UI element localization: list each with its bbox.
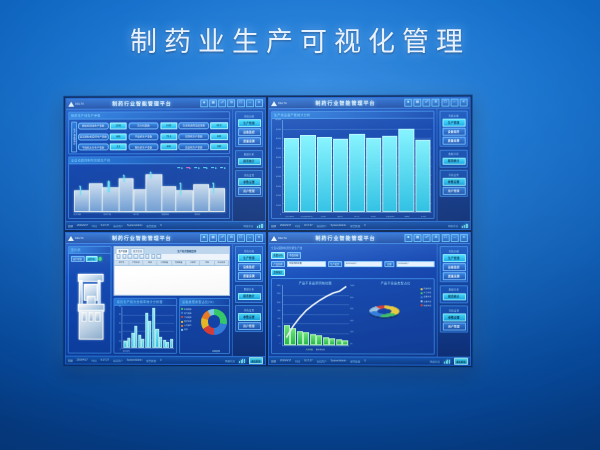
status-alarm-label: 报警数量 xyxy=(350,223,360,227)
param-label: 颗粒机转速生产参数 xyxy=(78,122,108,129)
bar xyxy=(170,338,173,347)
y2-tick: 60% xyxy=(350,309,353,311)
rail-button-quality[interactable]: 质量追溯 xyxy=(238,272,261,280)
pie-legend: 机械故障 电气故障 气动故障 程序异常 人为操作 其他 xyxy=(181,307,192,331)
y-tick: 40,000 xyxy=(276,177,281,179)
y-tick: 80,000 xyxy=(276,139,281,141)
pareto-chart: 产品不良品原因柏拉图 1400 1200 1000 800 600 400 20… xyxy=(273,280,357,352)
legend-item: 机械故障 xyxy=(181,307,192,310)
bar-chart-output: 100,000 90,000 80,000 70,000 60,000 50,0… xyxy=(272,119,434,218)
exit-button[interactable]: 退出系统 xyxy=(249,357,263,364)
param-value: 980 xyxy=(110,133,127,140)
filter-bar[interactable]: 产品名称 阿莫西林胶囊 生产批次 B20190417 日期 2019/04/17 xyxy=(271,261,435,268)
status-alarm-value: 0 xyxy=(364,359,365,362)
section-header: 全自动固体制剂智能生产线 xyxy=(271,246,435,250)
x-tick: 喷码机 xyxy=(416,216,432,218)
window-icon[interactable]: ☐ xyxy=(441,234,449,242)
legend-item: 其他 xyxy=(181,328,192,331)
rail-group: 系统设置 参数设置 用户管理 xyxy=(235,170,263,197)
y-axis: 50 40 30 20 10 0 xyxy=(115,305,121,352)
signal-icon xyxy=(257,224,263,228)
rail-group-caption: 数据分析 xyxy=(442,152,465,156)
x-axis: 提升加料机 湿法混合制粒机 流化床 整粒机 压片机 包衣机 铝塑包装机 装盒机 … xyxy=(282,216,432,218)
user-icon[interactable]: ☻ xyxy=(404,99,412,107)
y-tick: 1200 xyxy=(277,294,281,296)
brand-label: DELTA xyxy=(278,237,287,240)
status-date-value: 2019/4/17 xyxy=(280,359,291,362)
y-tick: 30,000 xyxy=(276,187,281,189)
tab-quality-analysis[interactable]: 质量分析 xyxy=(271,252,285,259)
legend-label: 外观不良 xyxy=(424,287,432,290)
save-icon[interactable] xyxy=(128,254,133,259)
pie-footer: 设备故障 xyxy=(212,349,220,352)
y-tick: 400 xyxy=(278,327,281,329)
titlebar: DELTA 制药行业智能管理平台 ☻ ▦ ☍ ⚙ ☐ – ✕ xyxy=(66,233,265,244)
legend-item: 电气故障 xyxy=(181,312,192,315)
signal-icon xyxy=(239,359,245,363)
flow-legend xyxy=(177,167,225,169)
station-label: 压片机 xyxy=(133,213,139,216)
rail-button-users[interactable]: 用户管理 xyxy=(238,187,261,195)
search-icon[interactable] xyxy=(157,254,162,259)
rail-button-equipment[interactable]: 设备监控 xyxy=(238,128,261,136)
param-value: 420 xyxy=(211,133,228,140)
rail-group-caption: 系统功能 xyxy=(442,113,465,117)
machine-block[interactable] xyxy=(74,190,90,211)
table-title: 生产批次数据查询 xyxy=(146,249,228,253)
donut-chart-defects xyxy=(369,305,399,317)
param-value: 0.85 xyxy=(160,122,177,129)
tab-defect-analysis[interactable]: 不良分析 xyxy=(287,252,301,259)
param-label: 装盒机生产参数 xyxy=(179,143,209,150)
param-value: 640 xyxy=(160,143,177,150)
legend-label: 累计百分比 xyxy=(316,348,325,351)
sidebar-rail[interactable]: 系统功能 生产管理 设备监控 质量追溯 数据分析 报表统计 系统设置 参数设置 … xyxy=(436,109,469,221)
status-user-value: SystemAdmin xyxy=(331,224,346,227)
y2-tick: 100% xyxy=(350,286,354,288)
table-toolbar[interactable] xyxy=(115,254,229,261)
flow-arrow-icon xyxy=(220,167,226,169)
status-date-value: 2019/4/17 xyxy=(280,224,291,227)
rail-button-users[interactable]: 用户管理 xyxy=(237,322,260,330)
status-indicator xyxy=(80,187,81,195)
pie-legend: 外观不良 尺寸不良 重量不良 含量不良 包装不良 xyxy=(421,287,432,307)
status-indicator xyxy=(124,175,125,182)
machine-block[interactable] xyxy=(193,184,209,211)
close-icon[interactable]: ✕ xyxy=(460,234,468,242)
x-axis-label: 批次编号 xyxy=(123,350,130,353)
status-user-label: 当前用户 xyxy=(113,224,123,228)
new-icon[interactable] xyxy=(116,254,121,259)
param-row: 干燥机水分生产参数 3.2 整粒机生产参数 640 装盒机生产参数 180 xyxy=(78,143,228,150)
status-time-label: 时间 xyxy=(295,223,300,227)
delta-logo: DELTA xyxy=(271,101,287,106)
x-tick: 压片机 xyxy=(349,216,365,218)
flow-arrow-icon xyxy=(203,167,209,169)
y-tick: 50 xyxy=(119,306,121,308)
y-tick: 1000 xyxy=(277,303,281,305)
rail-button-report[interactable]: 报表统计 xyxy=(238,158,261,166)
titlebar-icons[interactable]: ☻ ▦ ☍ ⚙ ☐ – ✕ xyxy=(404,234,468,242)
minimize-icon[interactable]: – xyxy=(246,234,254,242)
x-tick: 流化床 xyxy=(315,216,331,218)
rail-group: 数据分析 报表统计 xyxy=(440,285,468,303)
window-icon[interactable]: ☐ xyxy=(441,99,449,107)
close-icon[interactable]: ✕ xyxy=(255,99,263,107)
y2-tick: 40% xyxy=(350,321,353,323)
flow-arrow-icon xyxy=(211,167,217,169)
panel-analysis: 产品不良品原因柏拉图 1400 1200 1000 800 600 400 20… xyxy=(271,278,435,355)
status-indicator xyxy=(213,183,214,192)
link-icon[interactable]: ☍ xyxy=(423,99,431,107)
rail-button-report[interactable]: 报表统计 xyxy=(237,292,260,300)
rail-button-quality[interactable]: 质量追溯 xyxy=(442,137,465,145)
titlebar: DELTA 制药行业智能管理平台 ☻ ▦ ☍ ⚙ ☐ – ✕ xyxy=(66,98,265,110)
rail-button-params[interactable]: 参数设置 xyxy=(237,313,260,321)
status-time-value: 9:17:27 xyxy=(304,359,312,362)
bar-chart-batches: 50 40 30 20 10 0 xyxy=(115,305,176,353)
param-value: 3.2 xyxy=(110,144,127,151)
rail-button-equipment[interactable]: 设备监控 xyxy=(442,263,465,271)
y-tick: 200 xyxy=(278,336,281,338)
open-icon[interactable] xyxy=(122,254,127,259)
chart-icon[interactable]: ▦ xyxy=(413,99,421,107)
status-indicator xyxy=(180,184,181,195)
station-label: 提升加料 xyxy=(74,213,82,216)
app-title: 制药行业智能管理平台 xyxy=(86,234,198,241)
legend-label: 含量不良 xyxy=(424,300,432,303)
rail-button-quality[interactable]: 质量追溯 xyxy=(442,272,465,280)
panel-batch-bar-chart: 最近生产批次合格率统计分析图 50 40 30 20 10 xyxy=(114,297,177,354)
rail-group-caption: 系统设置 xyxy=(238,173,261,177)
status-date-label: 日期 xyxy=(271,359,276,363)
close-icon[interactable]: ✕ xyxy=(255,234,263,242)
tab-strip[interactable]: 质量分析 不良分析 xyxy=(271,252,435,259)
rail-group: 系统功能 生产管理 设备监控 质量追溯 xyxy=(235,111,263,147)
legend-label: 其他 xyxy=(184,328,188,331)
titlebar-icons[interactable]: ☻ ▦ ☍ ⚙ ☐ – ✕ xyxy=(404,99,468,107)
legend-label: 人为操作 xyxy=(184,324,192,327)
bar-series xyxy=(284,120,431,212)
y-tick: 100,000 xyxy=(275,120,281,122)
y-tick: 20,000 xyxy=(276,196,281,198)
y-tick: 1400 xyxy=(277,286,281,288)
gear-icon[interactable]: ⚙ xyxy=(432,234,440,242)
legend-label: 包装不良 xyxy=(424,304,432,307)
status-alarm-value: 0 xyxy=(160,359,161,362)
machine-block[interactable] xyxy=(102,187,120,211)
column-header: 产品名称 xyxy=(129,261,143,265)
print-icon[interactable] xyxy=(134,254,139,259)
refresh-icon[interactable] xyxy=(145,254,150,259)
status-time-value: 9:17:27 xyxy=(101,359,109,362)
y-axis-right: 100% 80% 60% 40% 20% 0% xyxy=(350,285,357,347)
rail-button-users[interactable]: 用户管理 xyxy=(442,187,465,195)
legend-label: 尺寸不良 xyxy=(424,291,432,294)
rail-button-production[interactable]: 生产管理 xyxy=(238,119,261,127)
rail-button-production[interactable]: 生产管理 xyxy=(442,254,465,262)
status-time-label: 时间 xyxy=(295,359,300,363)
bar xyxy=(349,134,364,212)
status-date-value: 2019/4/17 xyxy=(77,359,88,362)
y-tick: 800 xyxy=(278,311,281,313)
x-tick: 提升加料机 xyxy=(282,216,298,218)
filter-input-product[interactable]: 阿莫西林胶囊 xyxy=(287,261,325,268)
app-title: 制药行业智能管理平台 xyxy=(289,235,402,242)
signal-icon xyxy=(462,223,468,227)
y2-tick: 80% xyxy=(350,298,353,300)
x-tick: 包衣机 xyxy=(366,216,382,218)
param-value: 180 xyxy=(211,143,228,150)
screen-equipment-quality[interactable]: DELTA 制药行业智能管理平台 ☻ ▦ ☍ ⚙ ☐ – ✕ 压片机 xyxy=(65,232,266,365)
plot-area xyxy=(122,306,174,349)
bar xyxy=(317,137,332,212)
rail-group-caption: 系统设置 xyxy=(442,172,465,176)
status-bar: 日期 2019/4/17 时间 9:17:27 当前用户 SystemAdmin… xyxy=(269,356,470,365)
titlebar-icons[interactable]: ☻ ▦ ☍ ⚙ ☐ – ✕ xyxy=(200,99,263,107)
station-label: 流化干燥 xyxy=(103,213,111,216)
triangle-icon xyxy=(271,236,277,241)
machine-block[interactable] xyxy=(146,174,162,212)
rail-group: 数据分析 报表统计 xyxy=(235,150,263,168)
status-time-value: 9:17:27 xyxy=(304,224,312,227)
column-header: 规格 xyxy=(143,261,157,265)
machine-block[interactable] xyxy=(161,186,176,211)
filter-input-date[interactable]: 2019/04/17 xyxy=(396,261,435,268)
rail-button-params[interactable]: 参数设置 xyxy=(238,178,261,186)
gear-icon[interactable]: ⚙ xyxy=(227,234,235,242)
rail-group: 系统功能 生产管理 设备监控 质量追溯 xyxy=(440,246,468,282)
export-icon[interactable] xyxy=(151,254,156,259)
triangle-icon xyxy=(68,101,74,106)
column-header: 状态 xyxy=(200,261,214,265)
param-value: 62.5 xyxy=(211,122,228,129)
machine-block[interactable] xyxy=(176,190,194,211)
rail-group: 数据分析 报表统计 xyxy=(440,149,468,167)
y-tick: 600 xyxy=(278,319,281,321)
rail-group-caption: 数据分析 xyxy=(442,287,465,291)
flow-arrow-icon xyxy=(177,167,183,169)
panel-production-line: 全自动固体制剂智能生产线 xyxy=(68,156,230,219)
defect-type-pie: 产品不良品类型占比 外观不良 尺寸不良 重量不良 含量不良 包装不良 xyxy=(359,280,432,352)
rail-group: 数据分析 报表统计 xyxy=(235,284,263,302)
panel-output-chart: 生产线设备产能统计分析 100,000 90,000 80,000 70,000… xyxy=(271,111,435,219)
y-tick: 0 xyxy=(120,350,121,352)
param-label: 包衣机进风温度参数 xyxy=(179,122,209,129)
bar-series xyxy=(124,306,173,348)
donut-chart-faults xyxy=(201,308,227,334)
rail-button-report[interactable]: 报表统计 xyxy=(442,293,465,301)
screen-defect-pareto[interactable]: DELTA 制药行业智能管理平台 ☻ ▦ ☍ ⚙ ☐ – ✕ 全自动固体制剂智能… xyxy=(268,232,471,366)
user-icon[interactable]: ☻ xyxy=(200,99,208,107)
panel-fault-pie: 设备故障类型占比(%) 机械故障 电气故障 气动故障 程序异常 人为操作 其他 xyxy=(179,297,230,354)
x-tick: 装盒机 xyxy=(399,216,415,218)
machine-block[interactable] xyxy=(119,178,134,211)
machine-block[interactable] xyxy=(89,183,102,211)
status-alarm-value: 0 xyxy=(160,224,161,227)
bar xyxy=(415,140,431,212)
chart-icon[interactable]: ▦ xyxy=(209,99,217,107)
video-wall: DELTA 制药行业智能管理平台 ☻ ▦ ☍ ⚙ ☐ – ✕ 制药生产线生产 xyxy=(63,95,473,368)
delta-logo: DELTA xyxy=(68,101,84,106)
param-strip-label: 生产参数监控 xyxy=(71,121,77,152)
window-icon[interactable]: ☐ xyxy=(237,234,245,242)
equipment-render xyxy=(69,261,111,353)
status-bar: 日期 2019/4/17 时间 9:17:27 当前用户 SystemAdmin… xyxy=(66,356,265,365)
flow-arrow-icon xyxy=(186,167,192,169)
legend-label: 不良数量 xyxy=(306,348,313,351)
minimize-icon[interactable]: – xyxy=(451,234,459,242)
link-icon[interactable]: ☍ xyxy=(218,99,226,107)
link-icon[interactable]: ☍ xyxy=(423,234,431,242)
panel-title: 压片机 xyxy=(69,247,111,254)
status-alarm-label: 报警数量 xyxy=(146,358,156,362)
status-time-label: 时间 xyxy=(92,358,97,362)
signal-icon xyxy=(444,359,450,363)
bar xyxy=(399,129,415,212)
chart-icon[interactable]: ▦ xyxy=(414,234,422,242)
status-user-value: SystemAdmin xyxy=(331,359,346,362)
y-tick: 50,000 xyxy=(276,168,281,170)
chart-title: 产品不良品原因柏拉图 xyxy=(273,281,357,285)
user-icon[interactable]: ☻ xyxy=(200,234,208,242)
param-label: 整粒机生产参数 xyxy=(128,143,158,150)
sidebar-rail[interactable]: 系统功能 生产管理 设备监控 质量追溯 数据分析 报表统计 系统设置 参数设置 … xyxy=(437,244,470,357)
exit-button[interactable]: 退出系统 xyxy=(454,358,468,365)
param-label: 干燥机水分生产参数 xyxy=(78,144,108,151)
rail-group: 系统设置 参数设置 用户管理 xyxy=(235,305,263,332)
y-axis: 100,000 90,000 80,000 70,000 60,000 50,0… xyxy=(272,119,281,218)
param-value: 1250 xyxy=(110,122,127,129)
rail-button-production[interactable]: 生产管理 xyxy=(442,119,465,127)
filter-icon[interactable] xyxy=(139,254,144,259)
sidebar-rail[interactable]: 系统功能 生产管理 设备监控 质量追溯 数据分析 报表统计 系统设置 参数设置 … xyxy=(232,244,265,356)
rail-button-params[interactable]: 参数设置 xyxy=(442,313,465,321)
status-alarm-value: 0 xyxy=(364,224,365,227)
rail-group-caption: 数据分析 xyxy=(237,287,260,291)
query-button[interactable]: 查询统计 xyxy=(271,269,285,276)
param-label: 铝塑机生产参数 xyxy=(179,133,209,140)
app-title: 制药行业智能管理平台 xyxy=(289,99,402,106)
rail-button-quality[interactable]: 质量追溯 xyxy=(238,137,261,145)
legend-item: 重量不良 xyxy=(421,296,432,299)
screen-production-overview[interactable]: DELTA 制药行业智能管理平台 ☻ ▦ ☍ ⚙ ☐ – ✕ 制药生产线生产 xyxy=(65,97,266,230)
rail-group-caption: 系统功能 xyxy=(238,114,261,118)
y2-tick: 0% xyxy=(350,344,352,346)
y-tick: 20 xyxy=(119,333,121,335)
brand-label: DELTA xyxy=(278,102,287,105)
rail-group-caption: 系统功能 xyxy=(238,248,261,252)
rail-button-production[interactable]: 生产管理 xyxy=(238,254,261,262)
column-header: 开始时间 xyxy=(215,261,229,265)
legend-item: 气动故障 xyxy=(181,316,192,319)
y-tick: 90,000 xyxy=(276,130,281,132)
screen-output-statistics[interactable]: DELTA 制药行业智能管理平台 ☻ ▦ ☍ ⚙ ☐ – ✕ 生产线设备产能统计… xyxy=(268,97,471,230)
y-tick: 10,000 xyxy=(276,206,281,208)
filter-label-product: 产品名称 xyxy=(271,261,285,268)
rail-button-users[interactable]: 用户管理 xyxy=(442,322,465,330)
legend-item: 人为操作 xyxy=(181,324,192,327)
titlebar: DELTA 制药行业智能管理平台 ☻ ▦ ☍ ⚙ ☐ – ✕ xyxy=(269,233,470,244)
panel-equipment: 压片机 运行状态 运行中 xyxy=(68,246,112,354)
y-tick: 10 xyxy=(119,341,121,343)
production-line-diagram[interactable]: 提升加料 流化干燥 压片机 铝塑包装 喷码机 xyxy=(70,166,227,217)
rail-group-caption: 数据分析 xyxy=(238,152,261,156)
table-body[interactable] xyxy=(115,266,229,295)
status-user-label: 当前用户 xyxy=(317,223,327,227)
triangle-icon xyxy=(68,235,74,240)
panel-batch-table[interactable]: 生产记录 批次信息 生产批次数据查询 批次号 xyxy=(114,246,230,296)
rail-group: 系统设置 参数设置 用户管理 xyxy=(440,305,468,332)
cumulative-curve xyxy=(282,285,349,352)
rail-button-equipment[interactable]: 设备监控 xyxy=(442,128,465,136)
y-tick: 40 xyxy=(119,315,121,317)
chart-icon[interactable]: ▦ xyxy=(209,234,217,242)
rail-button-report[interactable]: 报表统计 xyxy=(442,157,465,165)
column-header: 计划数量 xyxy=(158,261,172,265)
rail-group: 系统设置 参数设置 用户管理 xyxy=(440,170,468,197)
gear-icon[interactable]: ⚙ xyxy=(432,99,440,107)
legend-label: 气动故障 xyxy=(184,316,192,319)
bar xyxy=(366,138,381,212)
status-net-label: 网络状态 xyxy=(448,223,458,227)
bar xyxy=(300,135,315,212)
rail-button-equipment[interactable]: 设备监控 xyxy=(238,263,261,271)
titlebar-icons[interactable]: ☻ ▦ ☍ ⚙ ☐ – ✕ xyxy=(200,234,263,242)
window-icon[interactable]: ☐ xyxy=(237,99,245,107)
minimize-icon[interactable]: – xyxy=(450,99,458,107)
brand-label: DELTA xyxy=(75,102,84,105)
status-date-label: 日期 xyxy=(68,224,73,228)
app-title: 制药行业智能管理平台 xyxy=(86,100,198,107)
plot-area xyxy=(282,120,432,213)
legend-item: 包装不良 xyxy=(421,304,432,307)
filter-input-batch[interactable]: B20190417 xyxy=(344,261,383,268)
column-header: 合格率 xyxy=(186,261,200,265)
rail-button-params[interactable]: 参数设置 xyxy=(442,178,465,186)
x-tick: 整粒机 xyxy=(332,216,348,218)
filter-label-date: 日期 xyxy=(384,261,394,268)
bar xyxy=(284,138,299,212)
status-user-label: 当前用户 xyxy=(317,359,327,363)
close-icon[interactable]: ✕ xyxy=(460,99,468,107)
status-bar: 日期 2019/4/17 时间 9:17:27 当前用户 SystemAdmin… xyxy=(269,221,470,229)
minimize-icon[interactable]: – xyxy=(246,99,254,107)
flow-arrow-icon xyxy=(194,167,200,169)
user-icon[interactable]: ☻ xyxy=(404,234,412,242)
machine-block[interactable] xyxy=(133,189,146,211)
status-alarm-label: 报警数量 xyxy=(146,224,156,228)
titlebar: DELTA 制药行业智能管理平台 ☻ ▦ ☍ ⚙ ☐ – ✕ xyxy=(269,98,470,110)
gear-icon[interactable]: ⚙ xyxy=(228,99,236,107)
param-label: 湿法制粒机搅拌生产参数 xyxy=(78,133,108,140)
rail-group-caption: 系统设置 xyxy=(442,308,465,312)
sidebar-rail[interactable]: 系统功能 生产管理 设备监控 质量追溯 数据分析 报表统计 系统设置 参数设置 … xyxy=(232,109,265,221)
legend-item: 含量不良 xyxy=(421,300,432,303)
link-icon[interactable]: ☍ xyxy=(218,234,226,242)
rail-group: 系统功能 生产管理 设备监控 质量追溯 xyxy=(235,246,263,282)
status-indicator xyxy=(150,172,151,178)
column-header: 批次号 xyxy=(115,261,129,265)
y-tick: 70,000 xyxy=(276,149,281,151)
legend-item: 外观不良 xyxy=(421,287,432,290)
status-time-value: 9:17:27 xyxy=(101,224,109,227)
status-net-label: 网络状态 xyxy=(243,224,253,228)
machine-block[interactable] xyxy=(209,188,225,211)
running-led-icon xyxy=(98,257,101,260)
delta-logo: DELTA xyxy=(68,235,84,240)
param-row: 颗粒机转速生产参数 1250 压片机参数 0.85 包衣机进风温度参数 62.5 xyxy=(78,122,228,129)
